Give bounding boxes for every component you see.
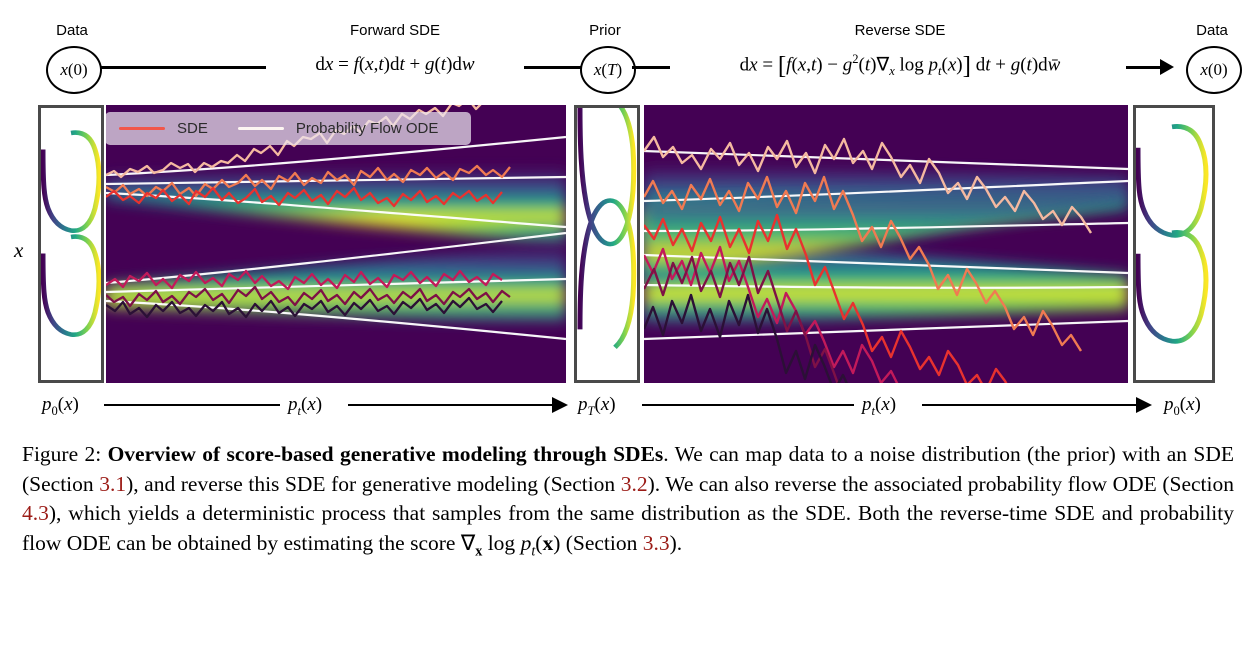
header-label-data-left: Data (42, 22, 102, 39)
panel-forward-sde-heatmap: SDE Probability Flow ODE (106, 105, 566, 383)
bottom-arrow-seg-4 (922, 404, 1144, 406)
density-curve-prior (577, 108, 637, 380)
header-title-reverse-sde: Reverse SDE (690, 22, 1110, 39)
bottom-label-p0-right: p0(x) (1164, 394, 1201, 419)
reverse-arrow-left-segment (632, 66, 670, 69)
figure-2-graphic: Data x(0) Forward SDE dx = f(x,t)dt + g(… (0, 0, 1252, 430)
panel-reverse-sde-heatmap (644, 105, 1128, 383)
panel-data-distribution-right (1133, 105, 1215, 383)
caption-ref-4-3[interactable]: 4.3 (22, 501, 49, 525)
figure-page: Data x(0) Forward SDE dx = f(x,t)dt + g(… (0, 0, 1252, 652)
legend-label-sde: SDE (177, 120, 208, 137)
bottom-arrow-head-1 (552, 397, 568, 413)
density-curve-right (1136, 108, 1212, 380)
bottom-arrow-seg-1 (104, 404, 280, 406)
figure-legend: SDE Probability Flow ODE (106, 112, 471, 145)
figure-header-row: Data x(0) Forward SDE dx = f(x,t)dt + g(… (0, 0, 1252, 100)
panel-data-distribution-left (38, 105, 104, 383)
bottom-arrow-head-2 (1136, 397, 1152, 413)
reverse-arrow-head (1160, 59, 1174, 75)
forward-arrow-left-segment (100, 66, 266, 69)
caption-ref-3-1[interactable]: 3.1 (99, 472, 126, 496)
node-xT-prior: x(T) (580, 46, 636, 94)
bottom-label-pT: pT(x) (578, 394, 616, 419)
equation-reverse-sde: dx = [f(x,t) − g2(t)∇x log pt(x)] dt + g… (678, 52, 1122, 80)
caption-figure-number: Figure 2: (22, 442, 101, 466)
y-axis-label: x (14, 238, 23, 263)
bottom-arrow-seg-2 (348, 404, 560, 406)
bottom-label-p0-left: p0(x) (42, 394, 79, 419)
node-x0-right: x(0) (1186, 46, 1242, 94)
density-curve-left (41, 108, 101, 380)
figure-bottom-row: p0(x) pt(x) pT(x) pt(x) p0(x) (0, 382, 1252, 430)
header-title-forward-sde: Forward SDE (275, 22, 515, 39)
header-label-prior: Prior (572, 22, 638, 39)
figure-caption: Figure 2: Overview of score-based genera… (22, 440, 1234, 566)
node-x0-left: x(0) (46, 46, 102, 94)
reverse-heatmap-svg (644, 105, 1128, 383)
panel-prior-distribution (574, 105, 640, 383)
bottom-label-pt-forward: pt(x) (288, 394, 322, 419)
bottom-label-pt-reverse: pt(x) (862, 394, 896, 419)
forward-heatmap-svg (106, 105, 566, 383)
legend-label-ode: Probability Flow ODE (296, 120, 439, 137)
equation-forward-sde: dx = f(x,t)dt + g(t)dw (275, 54, 515, 76)
caption-score-formula: ∇x log pt(x) (461, 531, 561, 555)
legend-swatch-sde (119, 127, 165, 130)
bottom-arrow-seg-3 (642, 404, 854, 406)
legend-swatch-ode (238, 127, 284, 130)
caption-bold-title: Overview of score-based generative model… (108, 442, 664, 466)
caption-ref-3-3[interactable]: 3.3 (643, 531, 670, 555)
forward-arrow-right-segment (524, 66, 586, 69)
header-label-data-right: Data (1182, 22, 1242, 39)
caption-ref-3-2[interactable]: 3.2 (621, 472, 648, 496)
